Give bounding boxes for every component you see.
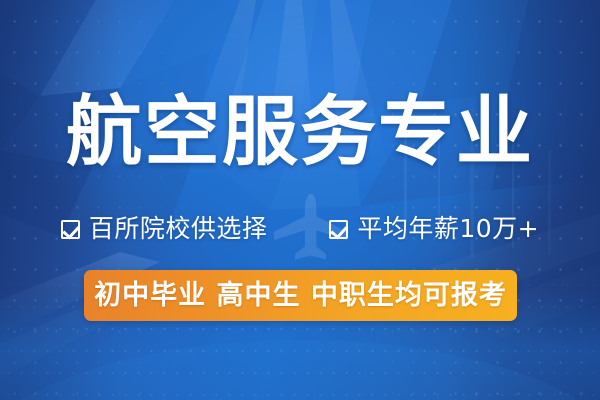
page-title: 航空服务专业 — [0, 90, 600, 174]
feature-label: 平均年薪10万+ — [357, 214, 539, 244]
checkbox-checked-icon — [61, 220, 80, 239]
aviation-service-banner: 航空服务专业 百所院校供选择 平均年薪10万+ 初中毕业 高中生 中职生均可报考 — [0, 0, 600, 400]
eligibility-cta-button[interactable]: 初中毕业 高中生 中职生均可报考 — [84, 270, 517, 321]
feature-item-salary: 平均年薪10万+ — [329, 214, 539, 244]
banner-content: 航空服务专业 百所院校供选择 平均年薪10万+ 初中毕业 高中生 中职生均可报考 — [0, 0, 600, 400]
feature-list: 百所院校供选择 平均年薪10万+ — [0, 214, 600, 244]
eligibility-cta-label: 初中毕业 高中生 中职生均可报考 — [94, 280, 507, 311]
feature-item-schools: 百所院校供选择 — [61, 214, 268, 244]
feature-label: 百所院校供选择 — [89, 214, 268, 244]
checkbox-checked-icon — [329, 220, 348, 239]
